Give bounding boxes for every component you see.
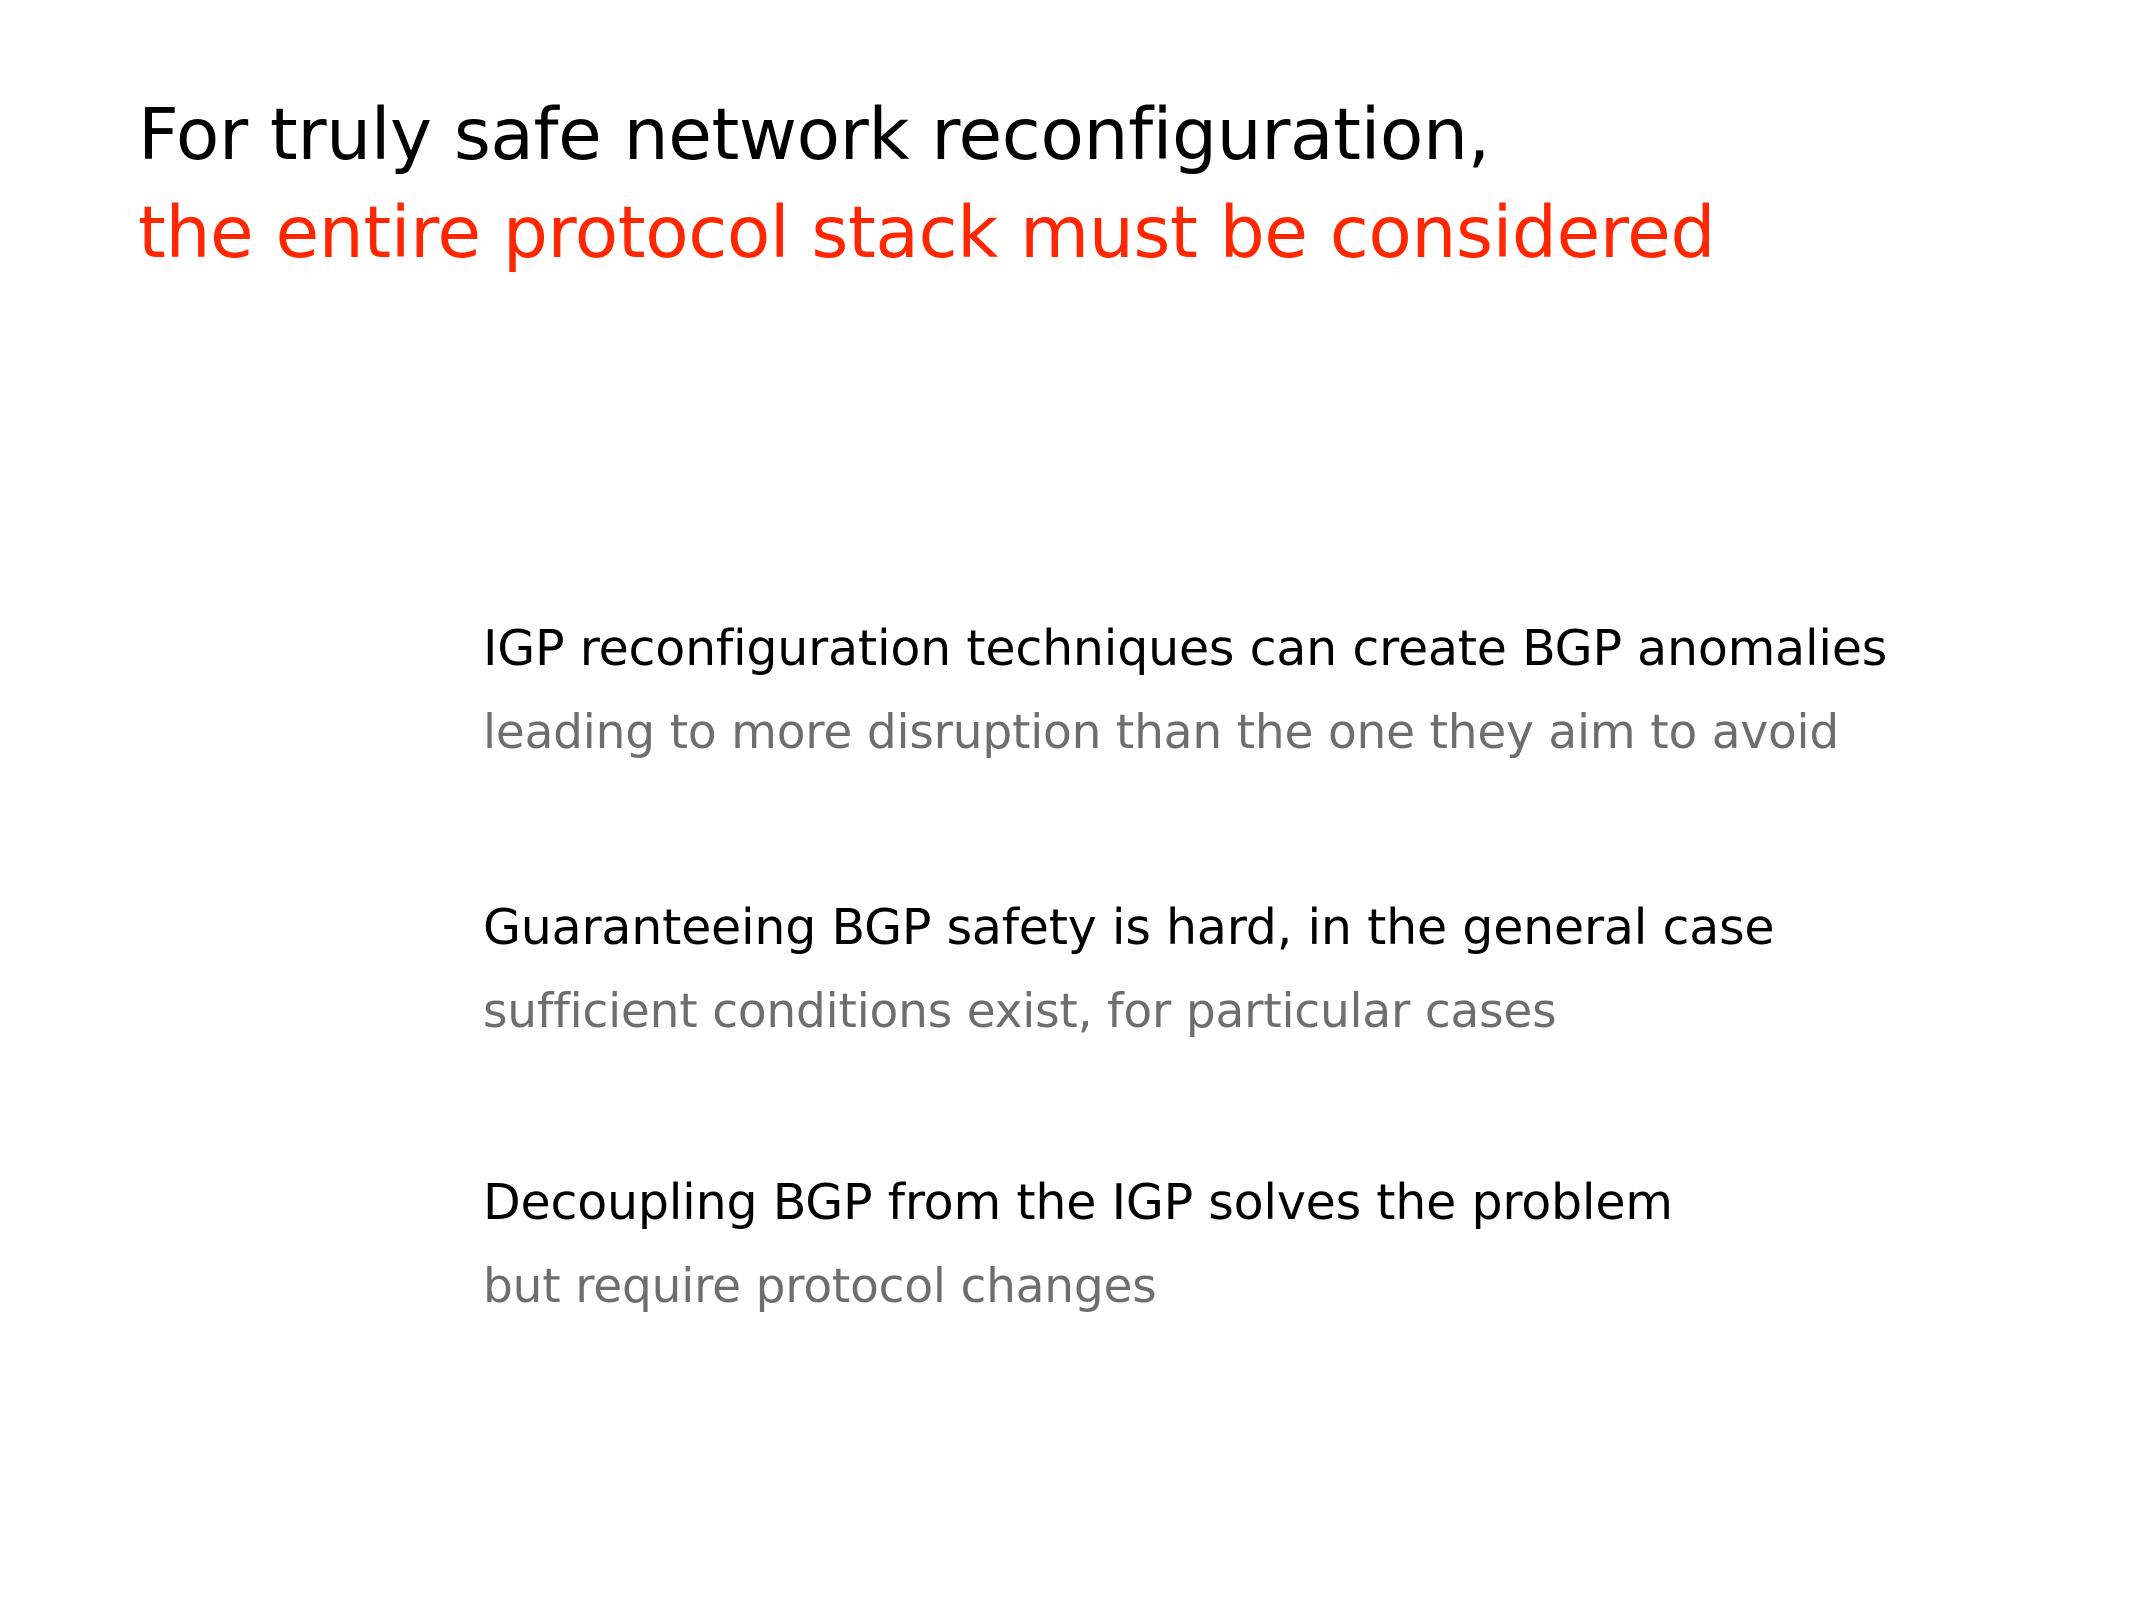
takeaway-1-subtext: leading to more disruption than the one …	[483, 698, 1983, 768]
takeaway-item-1: IGP reconfiguration techniques can creat…	[483, 614, 1983, 768]
takeaway-2-subtext: sufficient conditions exist, for particu…	[483, 977, 1983, 1047]
takeaway-item-2: Guaranteeing BGP safety is hard, in the …	[483, 893, 1983, 1047]
title-line-primary: For truly safe network reconfiguration,	[138, 86, 2018, 184]
takeaway-1-headline: IGP reconfiguration techniques can creat…	[483, 614, 1983, 684]
takeaway-2-headline: Guaranteeing BGP safety is hard, in the …	[483, 893, 1983, 963]
takeaway-item-3: Decoupling BGP from the IGP solves the p…	[483, 1168, 1983, 1322]
title-line-emphasis: the entire protocol stack must be consid…	[138, 184, 2018, 282]
slide-title: For truly safe network reconfiguration, …	[138, 86, 2018, 282]
presentation-slide: For truly safe network reconfiguration, …	[0, 0, 2134, 1600]
takeaway-3-subtext: but require protocol changes	[483, 1252, 1983, 1322]
takeaway-3-headline: Decoupling BGP from the IGP solves the p…	[483, 1168, 1983, 1238]
